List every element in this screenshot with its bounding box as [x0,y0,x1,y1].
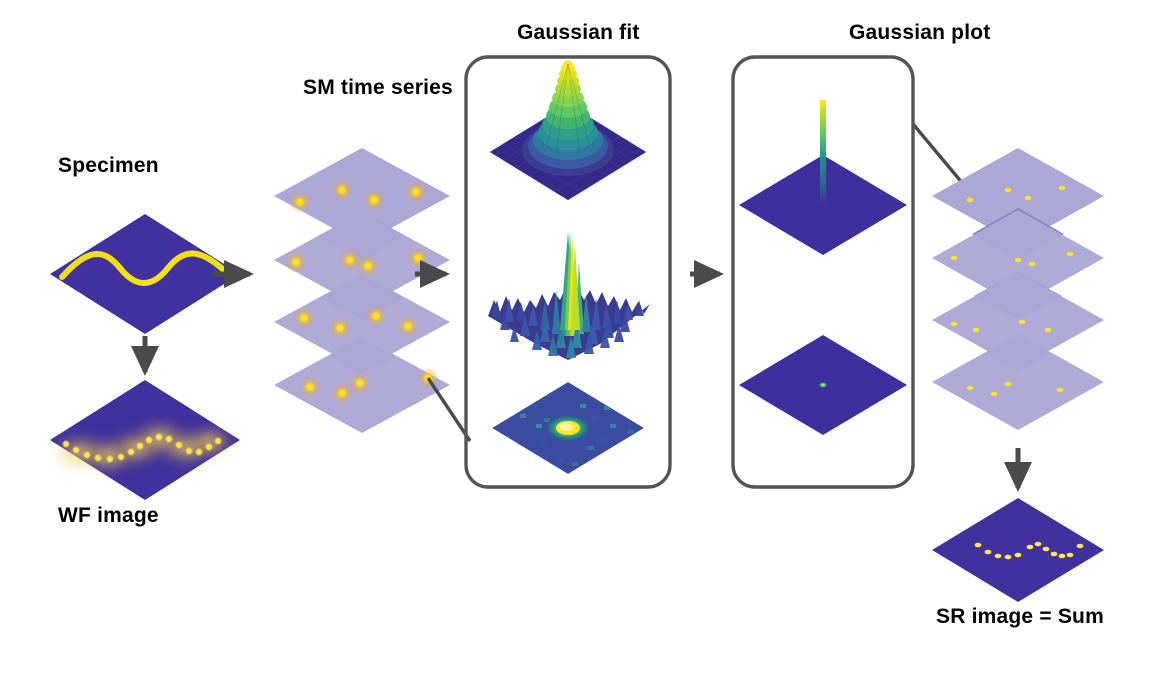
chart-gaussian-surface-clean [490,61,646,201]
sm-spot [331,179,353,201]
label-gaussian-plot: Gaussian plot [849,21,990,45]
plot-dot [1045,328,1052,332]
sm-spot [357,255,379,277]
plot-dot [1015,258,1022,262]
sm-spot [289,191,311,213]
specimen-diamond [50,214,240,334]
plot-dot [1005,188,1012,192]
plot-dot [991,392,998,396]
plot-layer-4 [932,334,1104,430]
plot-dot [967,198,974,202]
sm-spot [285,251,307,273]
sm-spot [299,376,321,398]
gaussian-bell-clean [522,61,614,177]
plot-dot [973,328,980,332]
plot-dot [967,386,974,390]
label-specimen: Specimen [58,154,159,178]
label-sr-image-sum: SR image = Sum [936,605,1104,629]
figure-canvas: Specimen WF image SM time series Gaussia… [0,0,1152,699]
plot-dot [951,256,958,260]
plot-dot [1025,196,1032,200]
sm-spot [349,372,371,394]
plot-dot [1005,382,1012,386]
chart-gaussian-plot-spike [739,100,907,255]
sm-spot [405,181,427,203]
plot-dot [1019,320,1026,324]
diagram-graphics [0,0,1152,699]
connector-sm-to-fit [428,378,470,441]
wf-image-diamond [50,380,240,500]
sm-spot [397,315,419,337]
label-sm-time-series: SM time series [303,76,453,100]
sm-spot [365,305,387,327]
plot-dot [1059,186,1066,190]
sm-spot [363,189,385,211]
chart-gaussian-plot-flat [739,335,907,435]
label-wf-image: WF image [58,504,159,528]
chart-gaussian-surface-noisy [486,230,650,360]
plot-dot [1067,252,1074,256]
sm-time-series-stack [274,148,450,433]
gaussian-plot-stack [932,148,1104,430]
sm-spot [293,307,315,329]
plot-dot [951,322,958,326]
plot-dot [1029,262,1036,266]
plot-dot [1057,388,1064,392]
sm-spot [407,247,429,269]
sm-spot [329,317,351,339]
sr-image-diamond [932,498,1104,602]
chart-gaussian-heatmap-noisy [492,382,644,474]
label-gaussian-fit: Gaussian fit [517,21,640,45]
